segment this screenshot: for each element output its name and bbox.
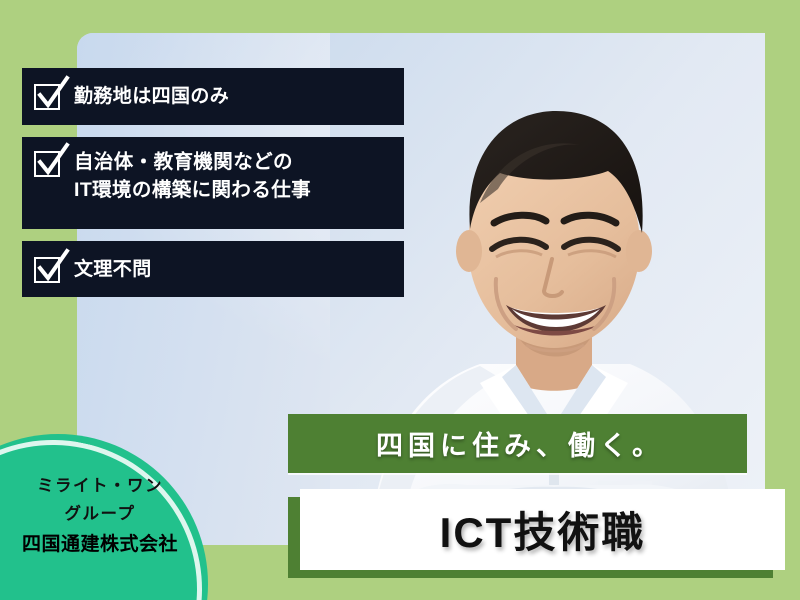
feature-item-label: 自治体・教育機関などの IT環境の構築に関わる仕事 (74, 149, 311, 204)
feature-item-label: 文理不問 (74, 257, 152, 283)
checkbox-checked-icon (34, 149, 64, 179)
feature-item: 勤務地は四国のみ (22, 68, 404, 125)
poster-canvas: 勤務地は四国のみ 自治体・教育機関などの IT環境の構築に関わる仕事 文理不問 … (0, 0, 800, 600)
feature-item-label: 勤務地は四国のみ (74, 84, 229, 110)
tagline-text: 四国に住み、働く。 (371, 424, 664, 463)
tagline-banner: 四国に住み、働く。 (288, 414, 747, 473)
job-title-text: ICT技術職 (440, 499, 646, 560)
job-title-box: ICT技術職 (300, 489, 785, 570)
company-logo-text: ミライト・ワン グループ 四国通建株式会社 (0, 478, 200, 554)
group-name-line1: ミライト・ワン (0, 478, 200, 495)
feature-item: 文理不問 (22, 241, 404, 297)
company-name: 四国通建株式会社 (0, 535, 200, 554)
group-name-line2: グループ (0, 506, 200, 523)
feature-item: 自治体・教育機関などの IT環境の構築に関わる仕事 (22, 137, 404, 229)
checkbox-checked-icon (34, 82, 64, 112)
checkbox-checked-icon (34, 255, 64, 285)
feature-list: 勤務地は四国のみ 自治体・教育機関などの IT環境の構築に関わる仕事 文理不問 (22, 68, 404, 309)
